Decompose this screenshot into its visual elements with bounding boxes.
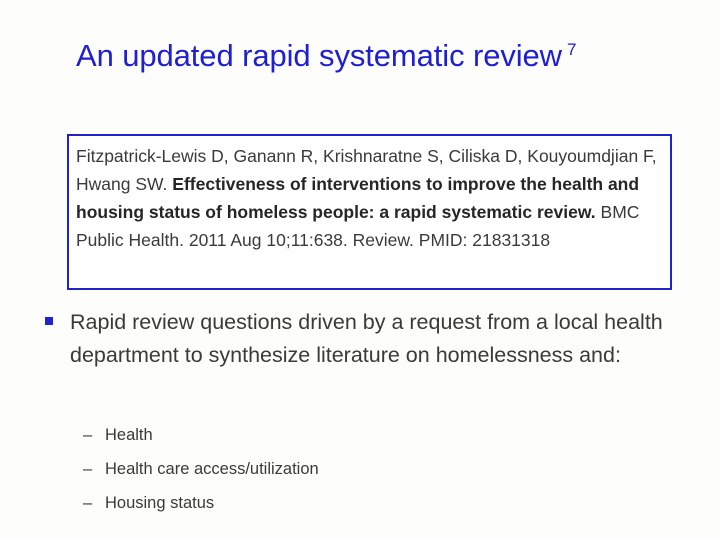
sub-bullet-text: Housing status [105, 486, 720, 520]
bullet-text: Rapid review questions driven by a reque… [70, 306, 670, 372]
page-title-text: An updated rapid systematic review [76, 38, 562, 73]
bullet-list: Rapid review questions driven by a reque… [0, 306, 720, 374]
page-title: An updated rapid systematic review7 [76, 36, 686, 76]
sub-bullet-list: – Health – Health care access/utilizatio… [0, 418, 720, 520]
list-item: – Health [0, 418, 720, 452]
dash-bullet-icon: – [83, 486, 92, 520]
dash-bullet-icon: – [83, 418, 92, 452]
page-title-superscript: 7 [567, 40, 576, 59]
list-item: Rapid review questions driven by a reque… [0, 306, 720, 372]
sub-bullet-text: Health [105, 418, 720, 452]
citation-text: Fitzpatrick-Lewis D, Ganann R, Krishnara… [76, 142, 662, 254]
list-item: – Housing status [0, 486, 720, 520]
dash-bullet-icon: – [83, 452, 92, 486]
square-bullet-icon [45, 317, 53, 325]
slide-canvas: An updated rapid systematic review7 Fitz… [0, 0, 720, 540]
sub-bullet-text: Health care access/utilization [105, 452, 720, 486]
citation-box: Fitzpatrick-Lewis D, Ganann R, Krishnara… [67, 134, 672, 290]
list-item: – Health care access/utilization [0, 452, 720, 486]
